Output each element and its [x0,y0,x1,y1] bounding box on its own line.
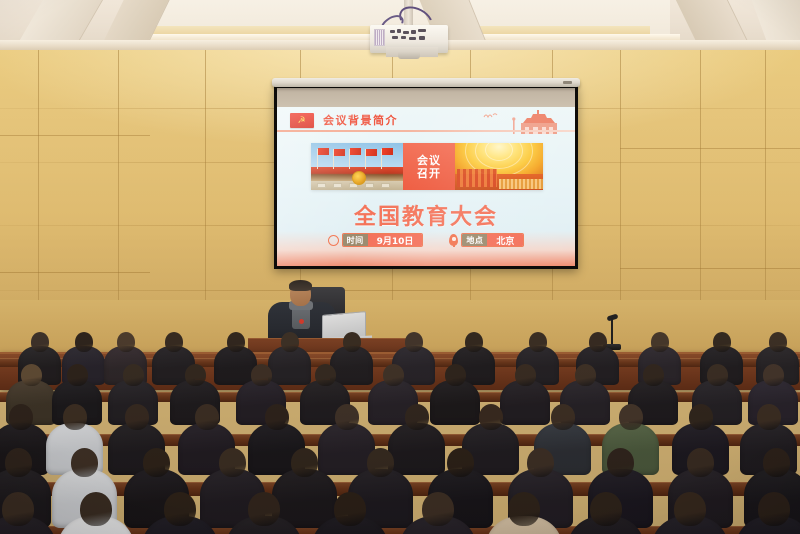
screen-roller-bar [272,78,580,87]
national-emblem-icon [352,171,366,185]
audience-member-head [367,448,394,477]
audience-member-head [589,332,607,352]
audience-member-head [405,404,429,430]
meta-location: 地点 北京 [449,233,524,247]
audience-member-head [405,332,423,352]
audience-member-head [508,492,540,526]
slide-header: ☭ 会议背景简介 [277,107,575,134]
location-chip-key: 地点 [462,234,487,246]
audience-member-head [265,404,289,430]
audience-member-head [763,448,790,477]
wall-panel-seam [0,272,150,273]
wall-panel-seam [620,268,800,269]
audience-member-head [479,404,503,430]
projector-port [390,30,395,33]
gate-window [317,183,326,188]
audience-member-head [251,364,272,386]
projection-screen: ☭ 会议背景简介 [274,85,578,269]
screen-dead-band [277,88,575,107]
red-flag-icon [366,149,377,156]
sky [311,143,403,169]
audience-member-head [63,404,87,430]
audience-member-head [707,364,728,386]
audience-member-head [5,448,32,477]
banner-center-label: 会议 召开 [403,143,455,190]
audience-member-head [607,448,634,477]
audience-member-body [430,380,480,425]
audience-member-head [227,332,245,352]
party-flag-icon: ☭ [290,113,314,128]
audience-member-head [674,492,706,526]
audience-member-head [643,364,664,386]
audience-member-head [713,332,731,352]
time-chip-key: 时间 [343,234,368,246]
slide-content: ☭ 会议背景简介 [277,107,575,266]
audience-member-head [164,492,196,526]
audience-member-head [343,332,361,352]
gate-window [365,183,374,188]
audience-member-head [165,332,183,352]
gate-window [333,183,342,188]
audience-member-head [281,332,299,352]
audience-member-head [769,332,787,352]
speaker-hair [289,280,312,291]
audience-member-head [80,492,112,526]
audience-member-head [291,448,318,477]
audience-member-head [758,492,790,526]
clock-icon [328,235,339,246]
projector-port [409,37,416,40]
audience-member-head [248,492,280,526]
banner-label-line1: 会议 [417,154,441,167]
projector-port [418,29,426,32]
projector-lens-icon [398,52,420,59]
location-chip-value: 北京 [487,234,523,246]
audience-member-head [383,364,404,386]
audience-member-body [388,423,445,475]
projector-port [419,36,425,40]
audience-member-head [529,332,547,352]
location-pin-icon [449,234,458,246]
audience-member-head [689,404,713,430]
projector-port [411,30,416,34]
audience-member-head [125,404,149,430]
roller-knob [563,81,572,84]
projector-port [392,36,398,39]
projector-port [401,36,406,39]
projector-vent [374,29,385,46]
wall-panel-seam [0,135,150,136]
banner-label-line2: 召开 [417,167,441,180]
audience-member-head [422,492,454,526]
audience-member-head [527,448,554,477]
red-flag-icon [382,148,393,155]
audience-member-head [219,448,246,477]
audience-member-head [445,364,466,386]
conference-room-scene: ☭ 会议背景简介 [0,0,800,534]
projector-port [397,29,401,33]
audience-member-head [590,492,622,526]
speaker-lapel-badge [299,319,304,324]
time-chip: 时间 9月10日 [342,233,424,247]
audience-member-head [117,332,135,352]
audience-member-head [143,448,170,477]
slide-title: 全国教育大会 [277,199,575,231]
time-chip-value: 9月10日 [368,234,423,246]
hammer-sickle-icon: ☭ [296,116,307,125]
tiananmen-flags-image [311,143,403,190]
gate-window [381,183,390,188]
location-chip: 地点 北京 [461,233,524,247]
meta-time: 时间 9月10日 [328,233,424,247]
audience-area [0,330,800,534]
audience-member-head [551,404,575,430]
red-flag-icon [334,149,345,156]
audience-member-head [687,448,714,477]
great-hall-interior-image [455,143,543,190]
wall-panel-seam [620,148,800,149]
audience-member-head [67,364,88,386]
slide-banner: 会议 召开 [311,143,543,190]
screen-surface: ☭ 会议背景简介 [277,88,575,266]
audience-member-head [575,364,596,386]
audience-member-head [465,332,483,352]
audience-member-head [334,492,366,526]
slide-meta-row: 时间 9月10日 地点 北京 [277,233,575,247]
projector-ports [390,29,428,45]
audience-member-head [9,404,33,430]
slide-header-rule [277,130,575,132]
audience-member-head [315,364,336,386]
audience-member-head [757,404,781,430]
audience-member-head [71,448,98,477]
audience-member-head [185,364,206,386]
audience-member-head [515,364,536,386]
audience-member-head [619,404,643,430]
projector-port [403,31,409,34]
audience-member-head [123,364,144,386]
audience-member-head [21,364,42,386]
audience-member-body [500,380,550,425]
hall-seating [499,179,543,189]
audience-member-head [75,332,93,352]
hall-pillars [457,169,497,187]
audience-member-head [651,332,669,352]
audience-member-head [447,448,474,477]
audience-member-head [335,404,359,430]
slide-header-title: 会议背景简介 [323,112,398,128]
audience-member-head [763,364,784,386]
audience-member-head [2,492,34,526]
red-flag-icon [318,148,329,155]
audience-member-head [31,332,49,352]
red-flag-icon [350,148,361,155]
wall-panel-seam [0,290,800,291]
audience-member-head [195,404,219,430]
